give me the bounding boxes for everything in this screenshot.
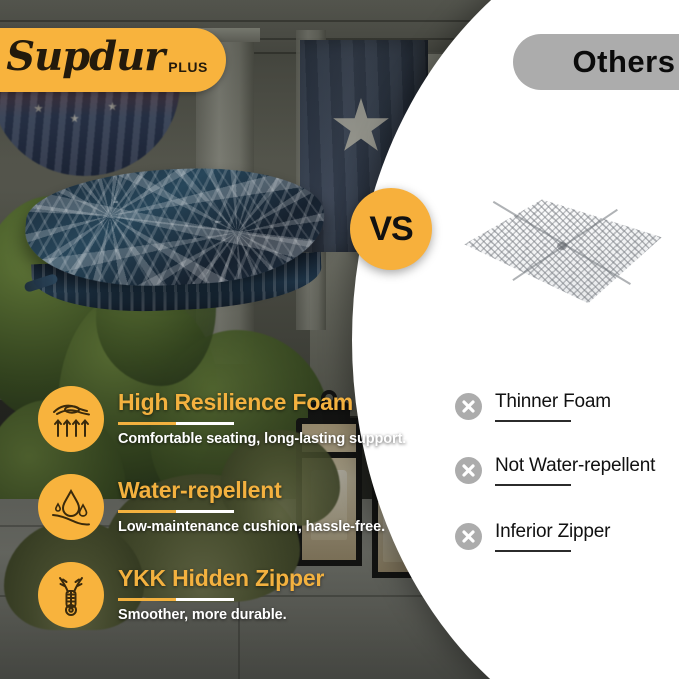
others-badge: Others: [513, 34, 679, 90]
brand-logo-text: Supdur: [6, 37, 164, 77]
circle-x-icon: [455, 393, 482, 420]
circle-x-icon: [455, 523, 482, 550]
water-droplet-repel-icon: [38, 474, 104, 540]
con-title: Not Water-repellent: [495, 455, 655, 477]
brand-logo-suffix: PLUS: [168, 59, 208, 75]
feature-divider: [118, 422, 234, 425]
competitor-cushion-image: [458, 190, 668, 308]
feature-divider: [118, 598, 234, 601]
con-item-inferior-zipper: Inferior Zipper: [455, 521, 610, 552]
feature-item-high-resilience-foam: High Resilience Foam Comfortable seating…: [38, 386, 406, 452]
vs-badge: VS: [350, 188, 432, 270]
hand-pressing-foam-icon: [38, 386, 104, 452]
con-item-not-water-repellent: Not Water-repellent: [455, 455, 655, 486]
con-divider: [495, 420, 571, 422]
feature-title: Water-repellent: [118, 478, 385, 503]
feature-item-ykk-hidden-zipper: YKK Hidden Zipper Smoother, more durable…: [38, 562, 324, 628]
circle-x-icon: [455, 457, 482, 484]
con-divider: [495, 484, 571, 486]
feature-description: Comfortable seating, long-lasting suppor…: [118, 431, 406, 447]
vs-badge-label: VS: [369, 210, 412, 249]
others-badge-label: Others: [573, 44, 676, 80]
feature-title: YKK Hidden Zipper: [118, 566, 324, 591]
feature-description: Low-maintenance cushion, hassle-free.: [118, 519, 385, 535]
product-cushion-image: [18, 160, 338, 350]
con-item-thinner-foam: Thinner Foam: [455, 391, 611, 422]
con-title: Inferior Zipper: [495, 521, 610, 543]
con-divider: [495, 550, 571, 552]
feature-title: High Resilience Foam: [118, 390, 406, 415]
con-title: Thinner Foam: [495, 391, 611, 413]
comparison-infographic: Supdur PLUS Others: [0, 0, 679, 679]
feature-description: Smoother, more durable.: [118, 607, 324, 623]
brand-logo: Supdur PLUS: [0, 28, 226, 92]
feature-item-water-repellent: Water-repellent Low-maintenance cushion,…: [38, 474, 385, 540]
zipper-icon: [38, 562, 104, 628]
feature-divider: [118, 510, 234, 513]
